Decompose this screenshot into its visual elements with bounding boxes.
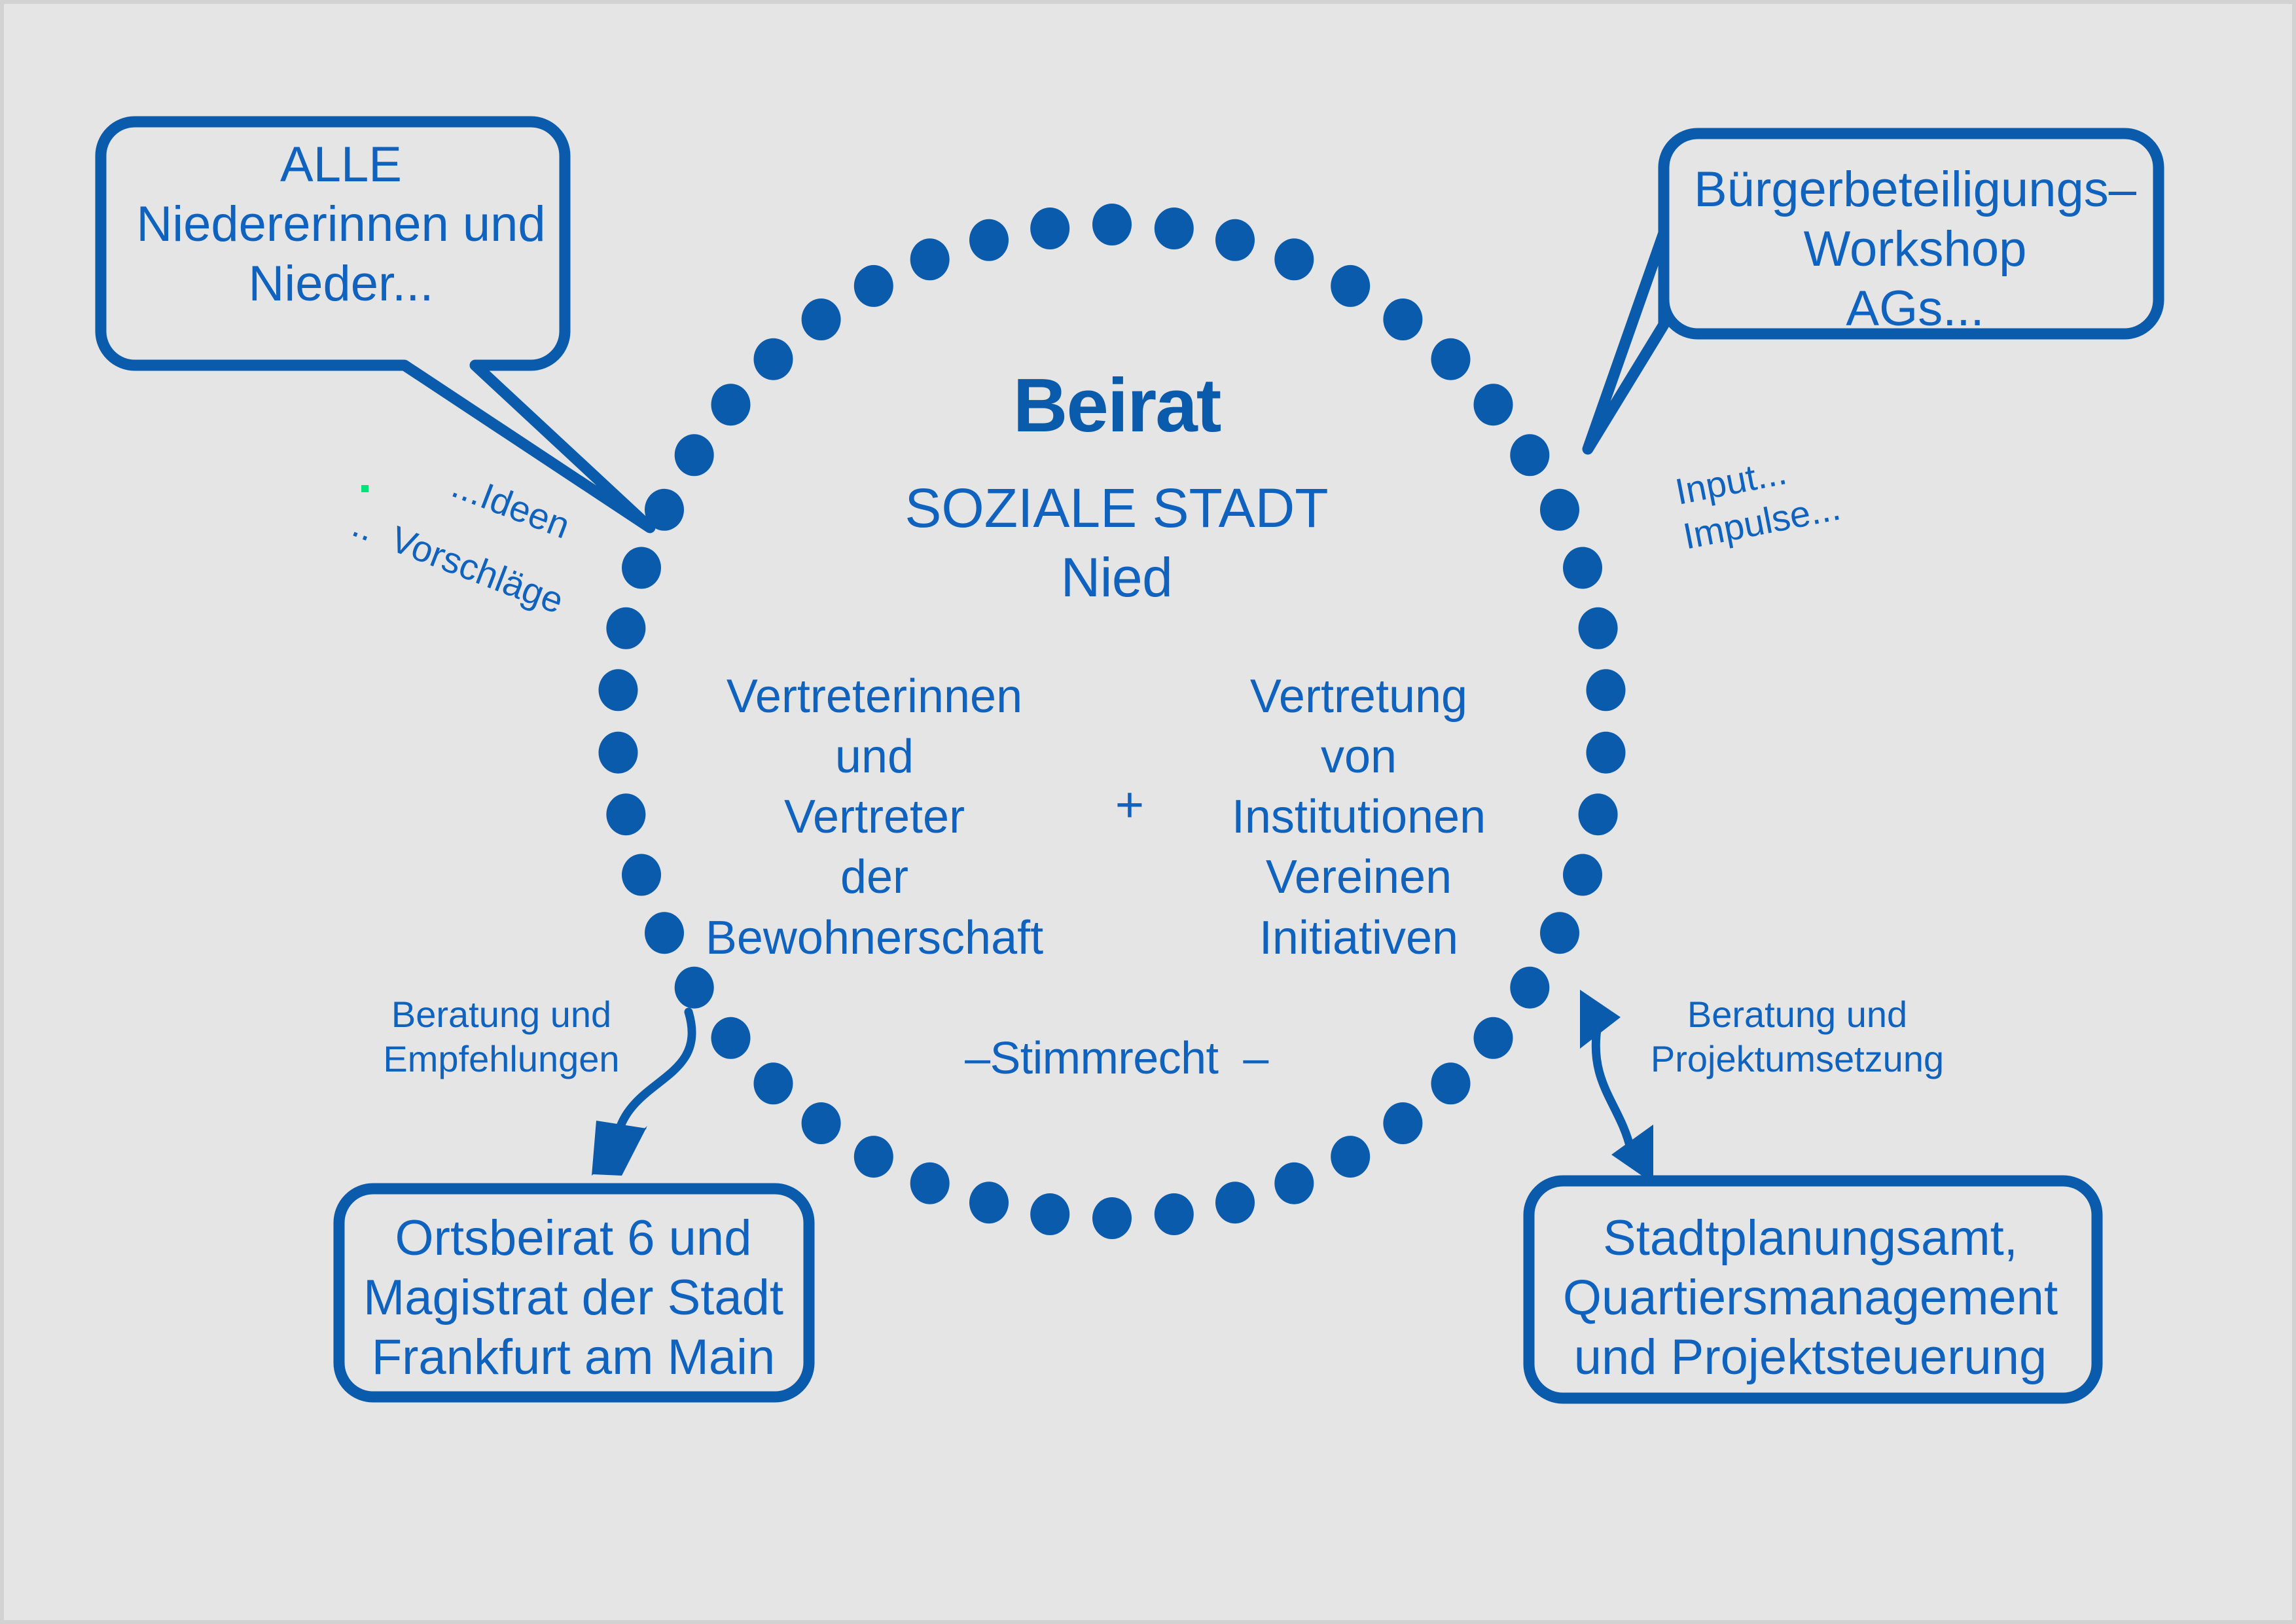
box-bottom-right-label[interactable]: Stadtplanungsamt, Quartiersmanagement un… xyxy=(1535,1208,2085,1388)
ring-dot xyxy=(802,1102,841,1144)
ring-dot xyxy=(1540,489,1579,531)
ring-dot xyxy=(1587,669,1626,711)
ring-dot xyxy=(675,967,714,1009)
ring-dot xyxy=(1510,967,1549,1009)
ring-dot xyxy=(1563,854,1602,896)
bubble-top-left-label[interactable]: ALLE Niedererinnen und Nieder... xyxy=(102,135,580,314)
annotation-beratung-projektumsetzung: Beratung und Projektumsetzung xyxy=(1640,992,1954,1082)
ring-dot xyxy=(969,1182,1009,1223)
ring-dot xyxy=(606,793,645,835)
box-bottom-left-label[interactable]: Ortsbeirat 6 und Magistrat der Stadt Fra… xyxy=(344,1208,802,1388)
ring-dot xyxy=(1155,208,1194,249)
ring-dot xyxy=(1092,1197,1132,1239)
ring-dot xyxy=(675,434,714,476)
center-subtitle-line2: Nied xyxy=(763,546,1470,609)
ring-dot xyxy=(1474,1017,1513,1059)
ring-dot xyxy=(802,298,841,340)
ring-dot xyxy=(1383,298,1422,340)
ring-dot xyxy=(1383,1102,1422,1144)
plus-symbol: + xyxy=(1090,776,1169,833)
ring-dot xyxy=(1274,1163,1314,1204)
stimmrecht-note: –Stimmrecht – xyxy=(868,1032,1365,1085)
ring-dot xyxy=(1474,384,1513,425)
green-speck-marker xyxy=(361,485,368,492)
ring-dot xyxy=(1030,208,1069,249)
ring-dot xyxy=(599,669,638,711)
ring-dot xyxy=(1587,732,1626,774)
ring-dot xyxy=(599,732,638,774)
ring-dot xyxy=(1030,1193,1069,1235)
ring-dot xyxy=(1579,793,1618,835)
ring-dot xyxy=(1563,547,1602,589)
ring-dot xyxy=(711,384,751,425)
ring-dot xyxy=(1540,912,1579,954)
ring-dot xyxy=(1579,607,1618,649)
ring-dot xyxy=(1215,219,1255,261)
ring-dot xyxy=(1155,1193,1194,1235)
ring-dot xyxy=(1510,434,1549,476)
ring-dot xyxy=(622,547,661,589)
ring-dot xyxy=(1331,1136,1370,1178)
center-column-left: Vertreterinnen und Vertreter der Bewohne… xyxy=(672,666,1077,968)
diagram-canvas: Beirat SOZIALE STADT Nied Vertreterinnen… xyxy=(0,0,2296,1624)
ring-dot xyxy=(1274,238,1314,280)
ring-dot xyxy=(606,607,645,649)
ring-dot xyxy=(910,1163,950,1204)
ring-dot xyxy=(711,1017,751,1059)
ring-dot xyxy=(1431,1062,1471,1104)
ring-dot xyxy=(854,265,893,307)
ring-dot xyxy=(910,238,950,280)
ring-dot xyxy=(1092,204,1132,245)
ring-dot xyxy=(1215,1182,1255,1223)
bubble-top-right-label[interactable]: Bürgerbeteiligungs– Workshop AGs... xyxy=(1679,160,2151,339)
annotation-beratung-empfehlungen: Beratung und Empfehlungen xyxy=(370,992,632,1082)
center-subtitle-line1: SOZIALE STADT xyxy=(763,477,1470,540)
ring-dot xyxy=(622,854,661,896)
ring-dot xyxy=(754,1062,793,1104)
ring-dot xyxy=(1331,265,1370,307)
center-title: Beirat xyxy=(763,361,1470,450)
ring-dot xyxy=(854,1136,893,1178)
center-column-right: Vertretung von Institutionen Vereinen In… xyxy=(1175,666,1542,968)
ring-dot xyxy=(969,219,1009,261)
